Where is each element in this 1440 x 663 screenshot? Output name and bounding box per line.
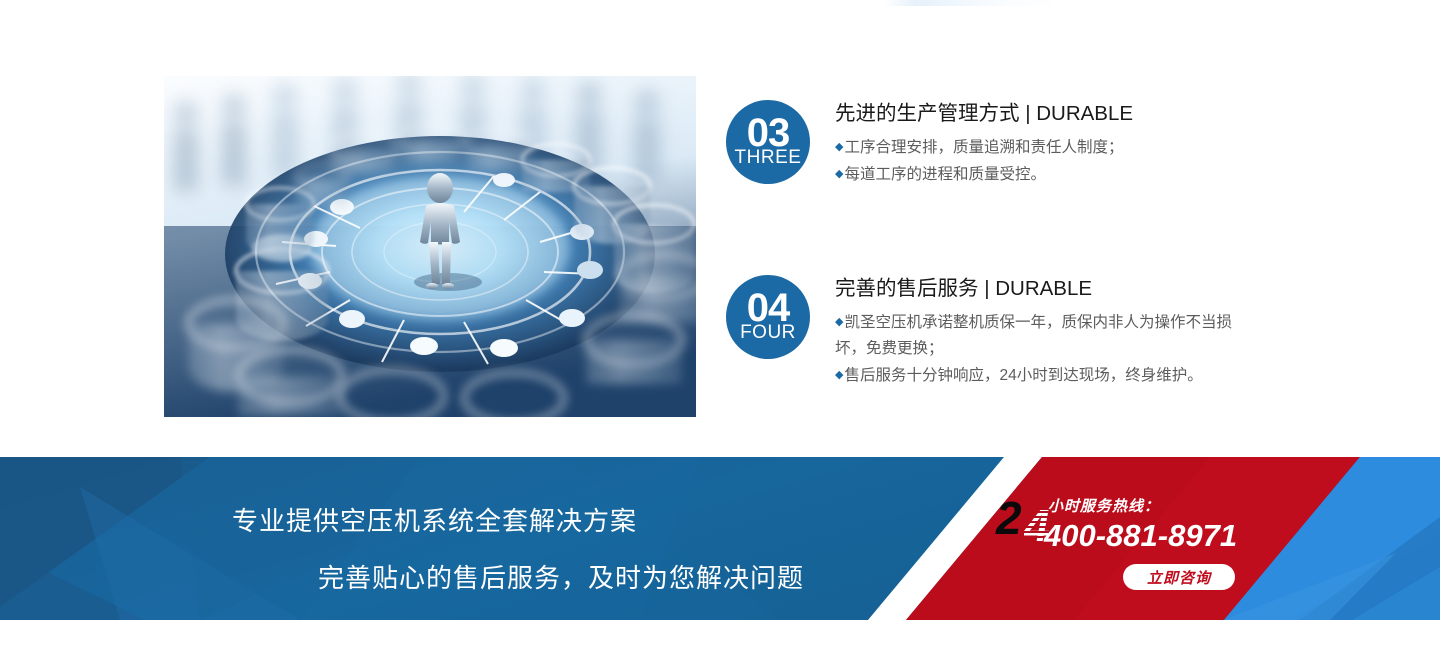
feature-title: 先进的生产管理方式 | DURABLE xyxy=(835,101,1133,127)
digit-two: 2 xyxy=(996,495,1022,541)
headline-line-1: 专业提供空压机系统全套解决方案 xyxy=(232,501,637,538)
badge-number: 03 xyxy=(747,119,790,147)
feature-bullets: ◆工序合理安排，质量追溯和责任人制度； ◆每道工序的进程和质量受控。 xyxy=(835,134,1133,188)
feature-block-04: 04 FOUR 完善的售后服务 | DURABLE ◆凯圣空压机承诺整机质保一年… xyxy=(726,275,1245,389)
feature-bullets: ◆凯圣空压机承诺整机质保一年，质保内非人为操作不当损坏，免费更换； ◆售后服务十… xyxy=(835,309,1245,389)
badge-03: 03 THREE xyxy=(726,100,810,184)
badge-number: 04 xyxy=(747,294,790,322)
feature-image xyxy=(164,76,696,417)
network-connection-people-illustration xyxy=(164,76,696,417)
feature-block-03: 03 THREE 先进的生产管理方式 | DURABLE ◆工序合理安排，质量追… xyxy=(726,100,1133,188)
page-root: 03 THREE 先进的生产管理方式 | DURABLE ◆工序合理安排，质量追… xyxy=(0,0,1440,663)
feature-text-04: 完善的售后服务 | DURABLE ◆凯圣空压机承诺整机质保一年，质保内非人为操… xyxy=(835,275,1245,389)
bullet-line: ◆工序合理安排，质量追溯和责任人制度； xyxy=(835,134,1133,161)
cta-banner: 专业提供空压机系统全套解决方案 完善贴心的售后服务，及时为您解决问题 2 4 小… xyxy=(0,457,1440,620)
bullet-line: ◆售后服务十分钟响应，24小时到达现场，终身维护。 xyxy=(835,362,1245,389)
bullet-diamond-icon: ◆ xyxy=(835,168,843,180)
feature-title: 完善的售后服务 | DURABLE xyxy=(835,276,1245,302)
bullet-diamond-icon: ◆ xyxy=(835,316,843,328)
hotline-number: 400-881-8971 xyxy=(1044,518,1237,554)
headline-line-2: 完善贴心的售后服务，及时为您解决问题 xyxy=(318,558,804,595)
bullet-text: 每道工序的进程和质量受控。 xyxy=(844,166,1046,183)
bullet-text: 工序合理安排，质量追溯和责任人制度； xyxy=(844,139,1123,156)
badge-04: 04 FOUR xyxy=(726,275,810,359)
feature-text-03: 先进的生产管理方式 | DURABLE ◆工序合理安排，质量追溯和责任人制度； … xyxy=(835,100,1133,188)
bullet-text: 售后服务十分钟响应，24小时到达现场，终身维护。 xyxy=(844,367,1202,384)
badge-word: FOUR xyxy=(740,322,796,343)
bullet-line: ◆凯圣空压机承诺整机质保一年，质保内非人为操作不当损坏，免费更换； xyxy=(835,309,1245,362)
hotline-block: 2 4 小时服务热线： 400-881-8971 立即咨询 xyxy=(996,493,1256,603)
hotline-label: 小时服务热线： xyxy=(1048,495,1160,516)
banner-headline: 专业提供空压机系统全套解决方案 完善贴心的售后服务，及时为您解决问题 xyxy=(0,457,950,620)
bullet-line: ◆每道工序的进程和质量受控。 xyxy=(835,161,1133,188)
top-cutoff-sliver xyxy=(884,0,1060,6)
bullet-text: 凯圣空压机承诺整机质保一年，质保内非人为操作不当损坏，免费更换； xyxy=(835,314,1232,357)
bullet-diamond-icon: ◆ xyxy=(835,369,843,381)
bullet-diamond-icon: ◆ xyxy=(835,141,843,153)
badge-word: THREE xyxy=(735,147,802,168)
consult-now-button[interactable]: 立即咨询 xyxy=(1123,564,1235,590)
